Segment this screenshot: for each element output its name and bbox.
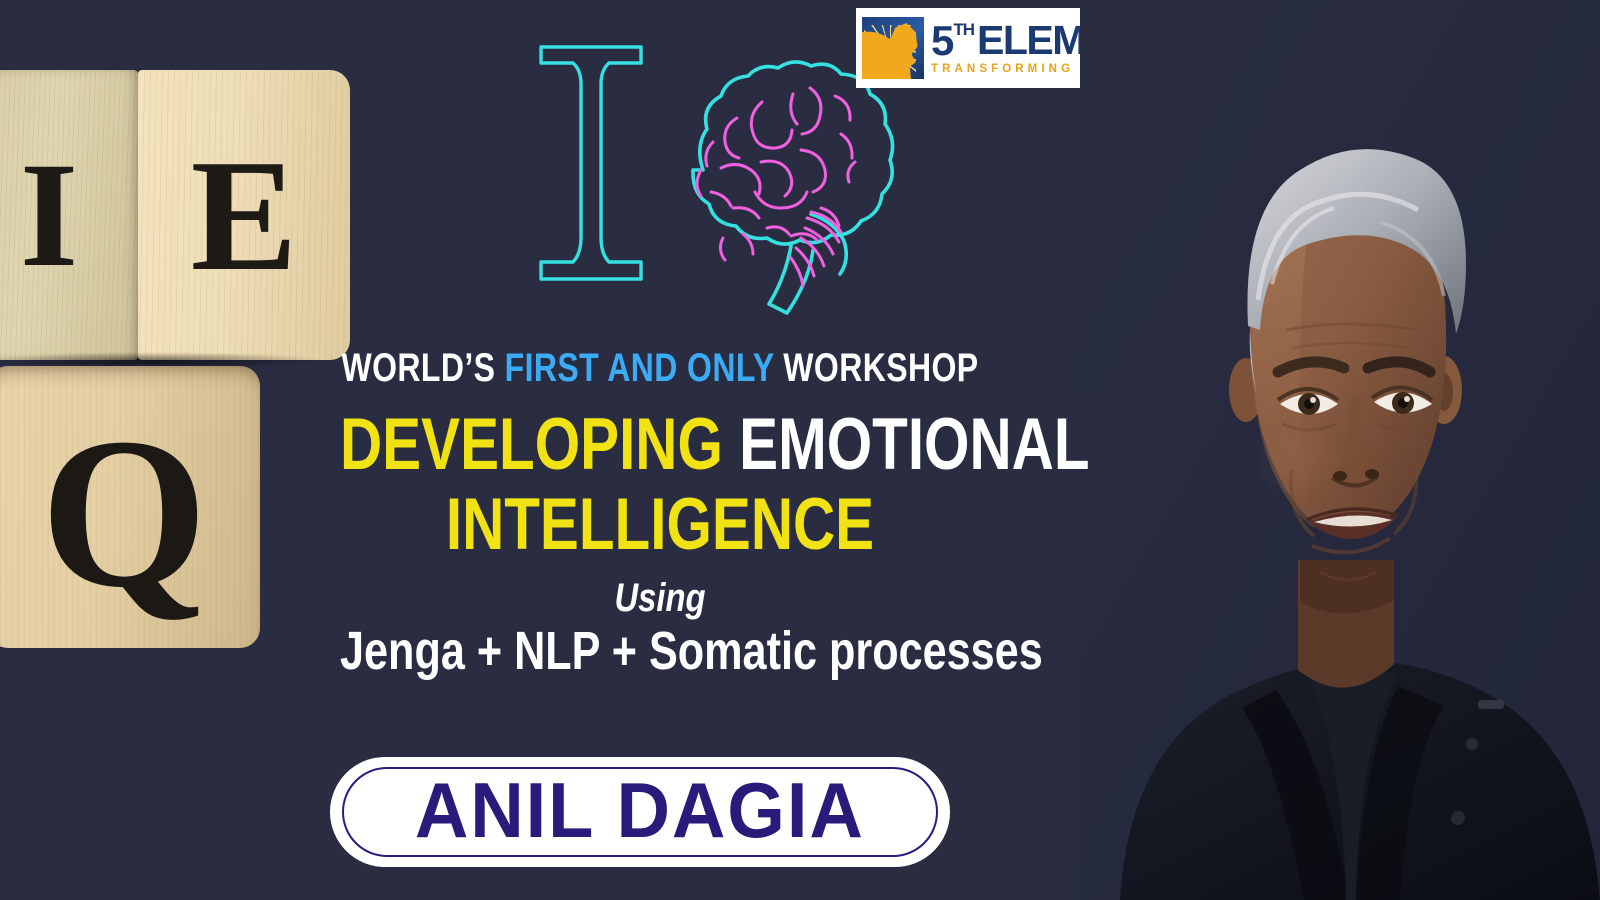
speaker-portrait <box>1080 0 1600 900</box>
speaker-name-badge: ANIL DAGIA <box>330 757 950 867</box>
block-letter-i: I <box>0 70 138 360</box>
kicker-pre: WORLD’S <box>341 346 504 390</box>
logo-mark-icon <box>862 17 924 79</box>
iq-svg <box>505 22 895 322</box>
letter-i-icon <box>541 47 641 279</box>
block-letter-q: Q <box>40 425 207 601</box>
title-emotional: EMOTIONAL <box>739 404 1089 485</box>
kicker-post: WORKSHOP <box>774 346 979 390</box>
methods-line: Jenga + NLP + Somatic processes <box>340 624 980 679</box>
wooden-block-bottom: Q <box>0 366 260 648</box>
title-line-2: INTELLIGENCE <box>340 486 980 564</box>
kicker-line: WORLD’S FIRST AND ONLY WORKSHOP <box>340 348 980 388</box>
block-letter-e: E <box>138 70 350 360</box>
title-developing: DEVELOPING <box>340 404 739 485</box>
logo-number: 5 <box>931 21 953 60</box>
copy-block: WORLD’S FIRST AND ONLY WORKSHOP DEVELOPI… <box>260 348 1060 679</box>
using-label: Using <box>332 578 988 618</box>
brain-folds <box>697 88 855 286</box>
iq-brain-graphic <box>505 22 895 322</box>
promo-banner: I E Q <box>0 0 1600 900</box>
title-line-1: DEVELOPING EMOTIONAL <box>340 406 980 484</box>
speaker-name: ANIL DAGIA <box>415 771 865 849</box>
logo-ordinal: TH <box>953 22 974 38</box>
wooden-block-top: I E <box>0 70 350 360</box>
kicker-highlight: FIRST AND ONLY <box>505 346 774 390</box>
portrait-svg <box>1080 0 1600 900</box>
